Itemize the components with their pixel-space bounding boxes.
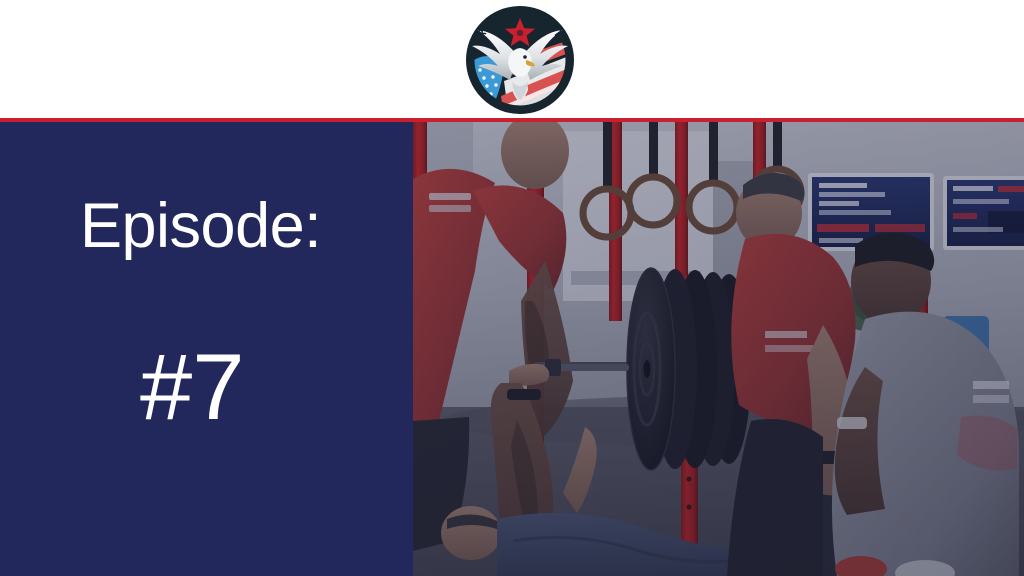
rally-point-logo: RALLY POINT [456, 0, 584, 122]
episode-title-slide: Episode: #7 [0, 0, 1024, 576]
episode-number: #7 [140, 340, 245, 434]
gym-training-photo [413, 121, 1024, 576]
photo-scene [413, 121, 1024, 576]
episode-label: Episode: [80, 193, 321, 259]
